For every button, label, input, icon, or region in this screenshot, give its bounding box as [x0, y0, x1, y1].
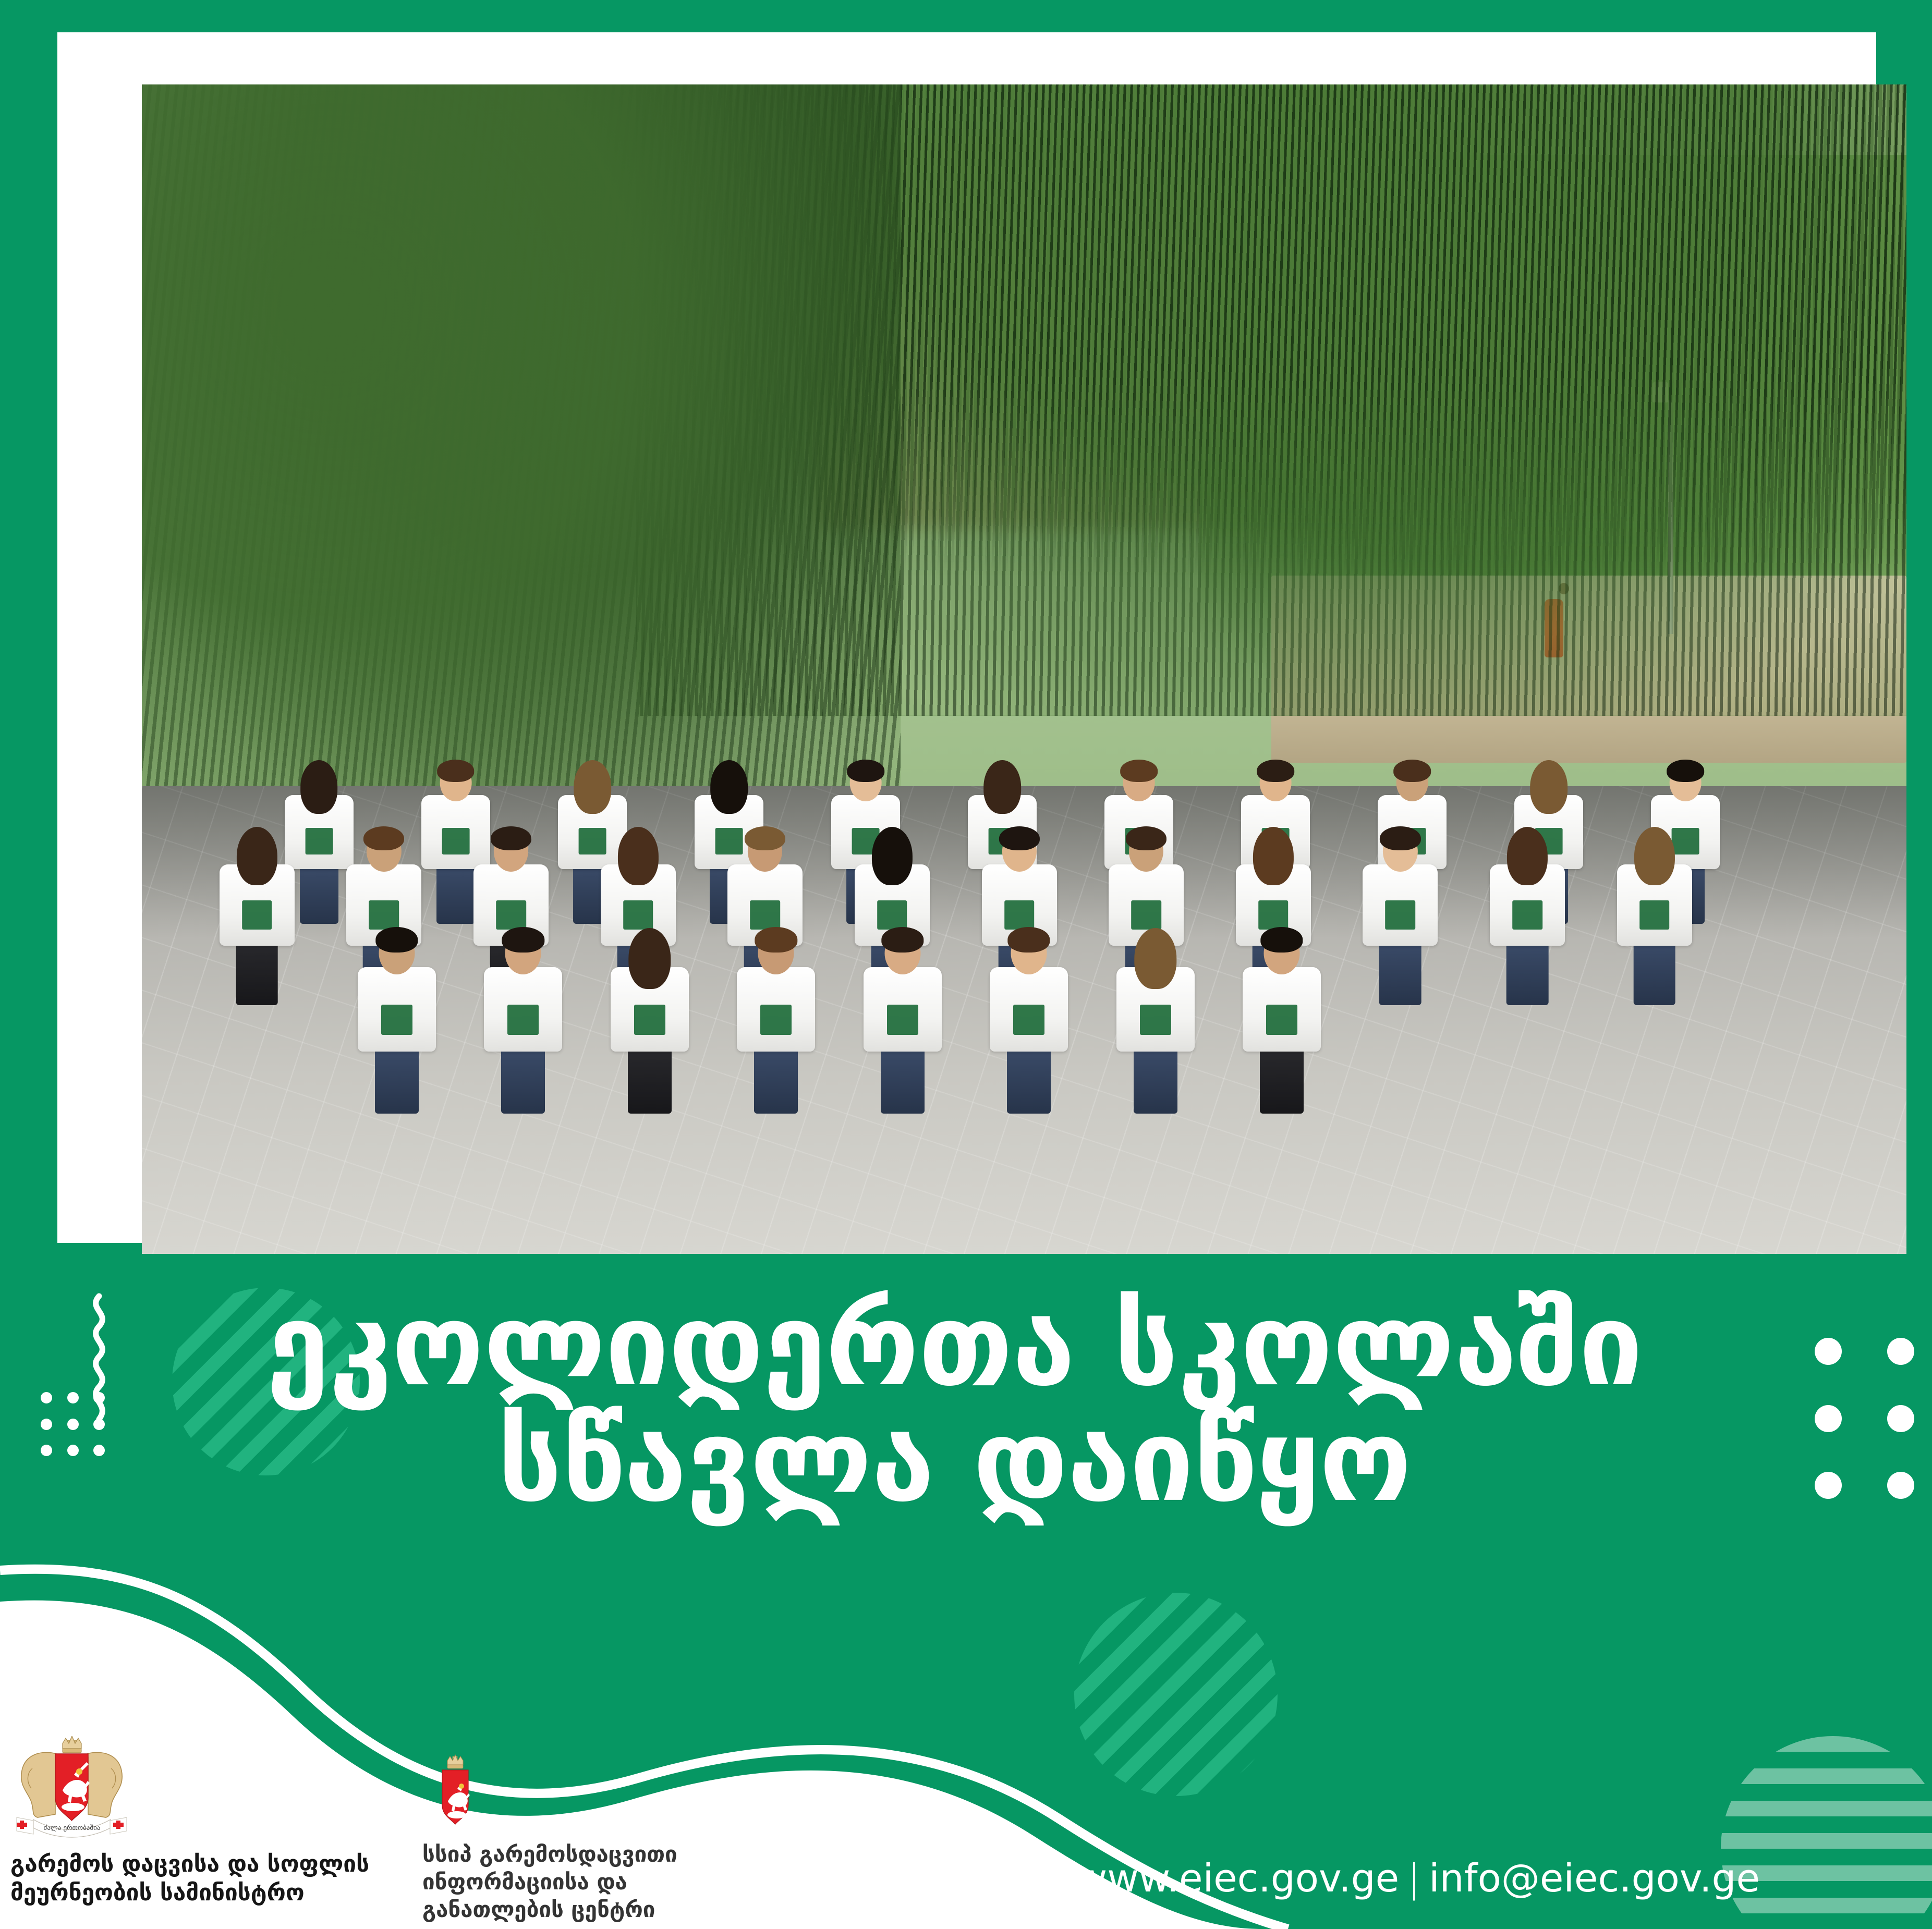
- student-hair: [983, 760, 1021, 814]
- student-legs: [1260, 1042, 1304, 1114]
- student-legs: [754, 1042, 798, 1114]
- student-hair: [1260, 927, 1303, 952]
- student-hair: [1007, 927, 1050, 952]
- tshirt-logo: [1013, 1005, 1044, 1035]
- tshirt-logo: [877, 900, 907, 929]
- tshirt-logo: [496, 900, 526, 929]
- student-legs: [1379, 936, 1421, 1005]
- student-hair: [999, 826, 1039, 850]
- student-hair: [628, 928, 671, 989]
- student-hair: [300, 760, 338, 814]
- student-hair: [375, 927, 418, 952]
- ministry-name-line-2: მეურნეობის სამინისტრო: [10, 1878, 369, 1907]
- student-legs: [236, 936, 278, 1005]
- page-title: ეკოლიდერთა სკოლაში სწავლა დაიწყო: [172, 1288, 1736, 1520]
- student-figure: [1363, 825, 1438, 1005]
- student-hair: [1253, 827, 1294, 886]
- student-legs: [375, 1042, 419, 1114]
- center-name: სსიპ გარემოსდაცვითი ინფორმაციისა და განა…: [422, 1841, 677, 1924]
- student-figure: [864, 926, 942, 1114]
- student-hair: [437, 760, 475, 782]
- student-legs: [300, 861, 338, 923]
- ministry-name-line-1: გარემოს დაცვისა და სოფლის: [10, 1850, 369, 1878]
- student-hair: [872, 827, 913, 886]
- tshirt-logo: [1004, 900, 1035, 929]
- student-hair: [502, 927, 544, 952]
- tshirt-logo: [750, 900, 780, 929]
- center-logo-block: სსიპ გარემოსდაცვითი ინფორმაციისა და განა…: [422, 1754, 761, 1924]
- student-legs: [1633, 936, 1675, 1005]
- crest-motto: ძალა ერთობაშია: [44, 1824, 101, 1832]
- email-link[interactable]: info@eiec.gov.ge: [1429, 1856, 1760, 1901]
- student-figure: [737, 926, 815, 1114]
- student-figure: [285, 759, 354, 924]
- student-hair: [1667, 760, 1704, 782]
- student-hair: [1507, 827, 1548, 886]
- student-hair: [1134, 928, 1176, 989]
- tshirt-logo: [442, 828, 469, 854]
- student-legs: [881, 1042, 925, 1114]
- student-group: [195, 435, 1748, 1114]
- student-hair: [1380, 826, 1420, 850]
- tshirt-logo: [760, 1005, 792, 1035]
- student-legs: [501, 1042, 545, 1114]
- student-hair: [237, 827, 277, 886]
- student-hair: [1393, 760, 1431, 782]
- ministry-logo-block: ძალა ერთობაშია გარემოს დაცვისა და სოფლის…: [10, 1736, 407, 1908]
- tshirt-logo: [1258, 900, 1289, 929]
- tshirt-logo: [381, 1005, 412, 1035]
- student-hair: [1634, 827, 1675, 886]
- tshirt-logo: [305, 828, 333, 854]
- student-legs: [628, 1042, 672, 1114]
- poster-canvas: ეკოლიდერთა სკოლაში სწავლა დაიწყო: [0, 0, 1932, 1929]
- student-figure: [358, 926, 436, 1114]
- student-figure: [990, 926, 1068, 1114]
- center-name-line-3: განათლების ცენტრი: [422, 1896, 677, 1924]
- student-legs: [436, 861, 475, 923]
- student-hair: [1126, 826, 1167, 850]
- student-hair: [881, 927, 924, 952]
- center-name-line-1: სსიპ გარემოსდაცვითი: [422, 1841, 677, 1869]
- student-hair: [755, 927, 797, 952]
- student-hair: [574, 760, 611, 814]
- student-legs: [1134, 1042, 1177, 1114]
- student-figure: [1243, 926, 1321, 1114]
- tshirt-logo: [1131, 900, 1161, 929]
- headline-line-2: სწავლა დაიწყო: [172, 1403, 1736, 1519]
- student-figure: [1490, 825, 1565, 1005]
- website-link[interactable]: www.eiec.gov.ge: [1076, 1856, 1399, 1901]
- student-figure: [220, 825, 295, 1005]
- tshirt-logo: [1386, 900, 1416, 929]
- tshirt-logo: [887, 1005, 918, 1035]
- dot-grid-icon: [41, 1392, 108, 1460]
- student-hair: [847, 760, 884, 782]
- center-name-line-2: ინფორმაციისა და: [422, 1869, 677, 1896]
- headline-line-1: ეკოლიდერთა სკოლაში: [172, 1288, 1736, 1403]
- tshirt-logo: [507, 1005, 539, 1035]
- tshirt-logo: [634, 1005, 665, 1035]
- student-legs: [1506, 936, 1549, 1005]
- contact-info: www.eiec.gov.ge|info@eiec.gov.ge: [1076, 1856, 1760, 1901]
- tshirt-logo: [369, 900, 399, 929]
- photo-frame: [57, 32, 1876, 1243]
- student-figure: [484, 926, 562, 1114]
- student-legs: [1007, 1042, 1051, 1114]
- student-hair: [710, 760, 748, 814]
- student-hair: [1530, 760, 1568, 814]
- tshirt-logo: [1512, 900, 1542, 929]
- student-hair: [1257, 760, 1294, 782]
- student-figure: [1617, 825, 1692, 1005]
- tshirt-logo: [242, 900, 272, 929]
- ministry-name: გარემოს დაცვისა და სოფლის მეურნეობის სამ…: [10, 1850, 369, 1908]
- student-hair: [617, 827, 658, 886]
- photo-scene: [142, 84, 1906, 1254]
- student-figure: [1116, 926, 1195, 1114]
- tshirt-logo: [1266, 1005, 1297, 1035]
- group-photo: [142, 84, 1906, 1254]
- student-hair: [363, 826, 404, 850]
- contact-separator: |: [1407, 1856, 1420, 1901]
- georgia-small-coat-of-arms-icon: [422, 1754, 488, 1833]
- student-figure: [611, 926, 689, 1114]
- georgia-coat-of-arms-icon: ძალა ერთობაშია: [10, 1736, 133, 1840]
- tshirt-logo: [1140, 1005, 1171, 1035]
- tshirt-logo: [1639, 900, 1670, 929]
- student-hair: [491, 826, 531, 850]
- student-hair: [1120, 760, 1158, 782]
- student-hair: [745, 826, 785, 850]
- tshirt-logo: [623, 900, 653, 929]
